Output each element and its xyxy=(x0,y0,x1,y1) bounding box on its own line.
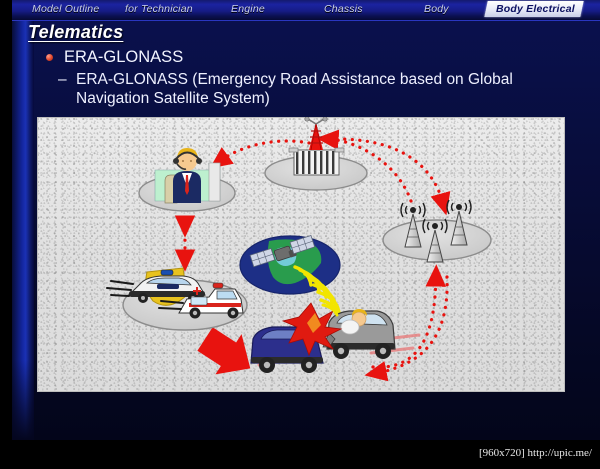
bullet-level1: ERA-GLONASS xyxy=(42,47,582,67)
nav-tab-model-outline[interactable]: Model Outline xyxy=(32,3,99,15)
slide-title: Telematics xyxy=(28,22,123,43)
footer-source-text: [960x720] http://upic.me/ xyxy=(479,447,592,459)
bullet-list: ERA-GLONASS – ERA-GLONASS (Emergency Roa… xyxy=(42,47,582,108)
screenshot-root: Model Outline for Technician Engine Chas… xyxy=(0,0,600,469)
gnss-satellite-earth xyxy=(240,236,341,321)
left-accent-fade xyxy=(12,360,34,440)
bullet-level1-label: ERA-GLONASS xyxy=(64,48,183,66)
nav-tab-body[interactable]: Body xyxy=(424,3,449,15)
nav-tab-for-technician[interactable]: for Technician xyxy=(125,3,193,15)
cell-tower-group xyxy=(383,200,491,262)
nav-tab-engine[interactable]: Engine xyxy=(231,3,265,15)
nav-tab-chassis[interactable]: Chassis xyxy=(324,3,363,15)
bullet-level2: – ERA-GLONASS (Emergency Road Assistance… xyxy=(42,70,582,108)
footer-bar: [960x720] http://upic.me/ xyxy=(0,440,600,469)
emergency-vehicles xyxy=(107,268,247,330)
nav-tab-body-electrical-label: Body Electrical xyxy=(496,3,575,15)
crash-scene xyxy=(251,303,419,373)
nav-tab-body-electrical[interactable]: Body Electrical xyxy=(484,1,583,17)
top-navigation-bar: Model Outline for Technician Engine Chas… xyxy=(12,0,600,21)
call-center-operator xyxy=(139,148,235,211)
crashed-suv xyxy=(323,309,395,359)
presentation-slide: Model Outline for Technician Engine Chas… xyxy=(12,0,600,440)
dash-icon: – xyxy=(58,70,67,89)
control-center-building xyxy=(265,117,367,190)
bullet-level2-label: ERA-GLONASS (Emergency Road Assistance b… xyxy=(76,71,513,107)
bullet-dot-icon xyxy=(46,54,53,61)
era-glonass-diagram xyxy=(37,117,565,392)
